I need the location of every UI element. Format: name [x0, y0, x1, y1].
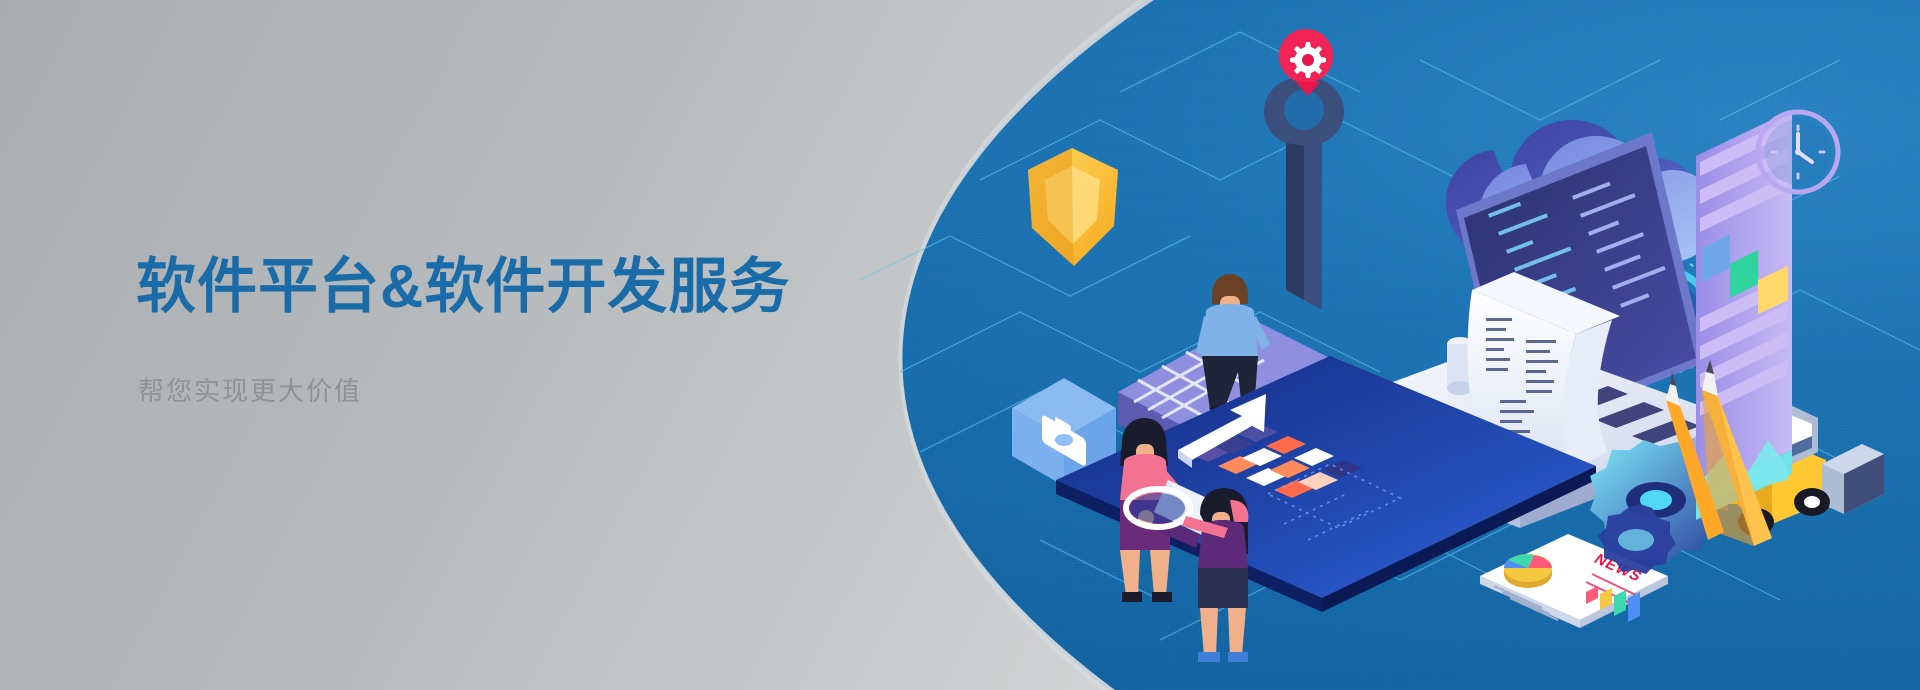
page-title: 软件平台&软件开发服务	[136, 255, 790, 319]
hero-illustration: NEWS	[860, 0, 1920, 690]
hero-copy: 软件平台&软件开发服务 帮您实现更大价值	[136, 255, 790, 408]
hero-banner: NEWS	[0, 0, 1920, 690]
clock-icon	[1758, 112, 1838, 192]
person-with-magnifier	[1126, 488, 1248, 662]
page-subtitle: 帮您实现更大价值	[138, 371, 790, 408]
shield-icon	[1028, 148, 1118, 266]
wrench-icon	[1264, 64, 1344, 310]
